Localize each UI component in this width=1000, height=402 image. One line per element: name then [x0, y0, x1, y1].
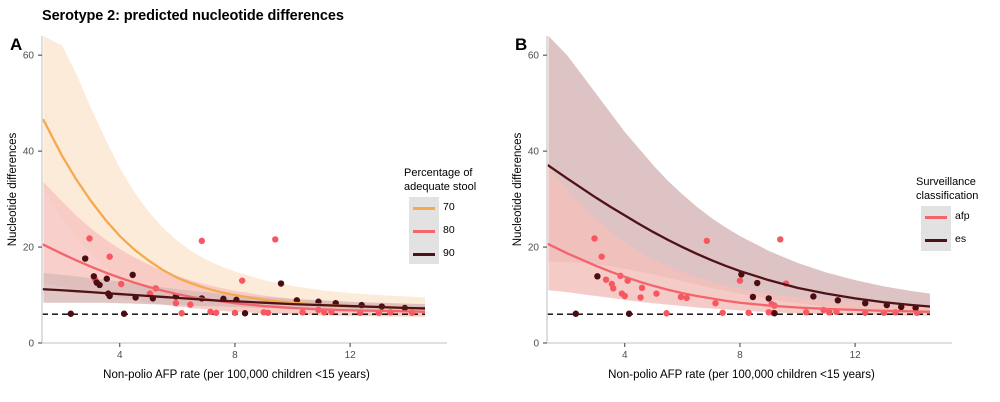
data-point [591, 235, 597, 241]
data-point [603, 276, 609, 282]
x-axis-title: Non-polio AFP rate (per 100,000 children… [103, 369, 370, 381]
y-tick-label: 60 [528, 51, 540, 62]
legend-label-afp: afp [955, 210, 970, 222]
data-point [130, 272, 136, 278]
data-point [299, 309, 305, 315]
data-point [121, 311, 127, 317]
plot-area [42, 36, 425, 317]
legend-label-80: 80 [443, 224, 455, 236]
x-tick-label: 12 [345, 350, 357, 361]
legend-a-title: Percentage ofadequate stool [404, 167, 476, 194]
legend-swatch-afp[interactable] [925, 216, 947, 219]
panel-b-plot: 02040604812Non-polio AFP rate (per 100,0… [505, 0, 975, 402]
data-point [683, 295, 689, 301]
data-point [207, 309, 213, 315]
data-point [637, 294, 643, 300]
y-tick-label: 60 [23, 51, 35, 62]
legend-swatch-90[interactable] [413, 253, 435, 256]
legend-label-70: 70 [443, 201, 455, 213]
y-axis-title: Nucleotide differences [7, 132, 19, 246]
data-point [187, 301, 193, 307]
data-point [719, 310, 725, 316]
x-tick-label: 4 [622, 350, 628, 361]
data-point [663, 310, 669, 316]
data-point [199, 238, 205, 244]
y-tick-label: 40 [528, 147, 540, 158]
data-point [82, 255, 88, 261]
legend-title-line-1: adequate stool [404, 181, 476, 195]
data-point [265, 310, 271, 316]
data-point [771, 310, 777, 316]
data-point [242, 310, 248, 316]
x-tick-label: 8 [737, 350, 743, 361]
data-point [68, 311, 74, 317]
data-point [653, 290, 659, 296]
data-point [213, 310, 219, 316]
data-point [178, 310, 184, 316]
y-tick-label: 0 [533, 339, 539, 350]
plot-area [547, 36, 930, 317]
legend-swatch-es[interactable] [925, 239, 947, 242]
data-point [766, 295, 772, 301]
y-tick-label: 0 [28, 339, 34, 350]
legend-title-line-0: Surveillance [916, 176, 978, 190]
data-point [173, 300, 179, 306]
legend-label-es: es [955, 233, 966, 245]
data-point [118, 281, 124, 287]
data-point [712, 300, 718, 306]
data-point [272, 236, 278, 242]
data-point [573, 311, 579, 317]
data-point [599, 253, 605, 259]
data-point [803, 309, 809, 315]
legend-swatch-70[interactable] [413, 207, 435, 210]
data-point [86, 235, 92, 241]
data-point [594, 273, 600, 279]
panel-a-plot: 02040604812Non-polio AFP rate (per 100,0… [0, 0, 470, 402]
data-point [91, 273, 97, 279]
figure-root: Serotype 2: predicted nucleotide differe… [0, 0, 1000, 402]
data-point [745, 310, 751, 316]
data-point [104, 276, 110, 282]
data-point [278, 280, 284, 286]
legend-b-key-background [921, 206, 951, 251]
x-tick-label: 8 [232, 350, 238, 361]
legend-title-line-0: Percentage of [404, 167, 476, 181]
data-point [96, 282, 102, 288]
legend-title-line-1: classification [916, 190, 978, 204]
data-point [639, 285, 645, 291]
data-point [239, 277, 245, 283]
legend-label-90: 90 [443, 247, 455, 259]
data-point [777, 236, 783, 242]
data-point [835, 297, 841, 303]
y-tick-label: 20 [23, 243, 35, 254]
data-point [678, 294, 684, 300]
legend-b-title: Surveillanceclassification [916, 176, 978, 203]
data-point [106, 253, 112, 259]
x-tick-label: 12 [850, 350, 862, 361]
data-point [704, 238, 710, 244]
data-point [810, 293, 816, 299]
data-point [750, 294, 756, 300]
x-axis-title: Non-polio AFP rate (per 100,000 children… [608, 369, 875, 381]
y-tick-label: 40 [23, 147, 35, 158]
data-point [232, 310, 238, 316]
y-axis-title: Nucleotide differences [512, 132, 524, 246]
x-tick-label: 4 [117, 350, 123, 361]
data-point [610, 285, 616, 291]
data-point [737, 277, 743, 283]
legend-swatch-80[interactable] [413, 230, 435, 233]
data-point [622, 293, 628, 299]
data-point [754, 280, 760, 286]
y-tick-label: 20 [528, 243, 540, 254]
data-point [626, 311, 632, 317]
